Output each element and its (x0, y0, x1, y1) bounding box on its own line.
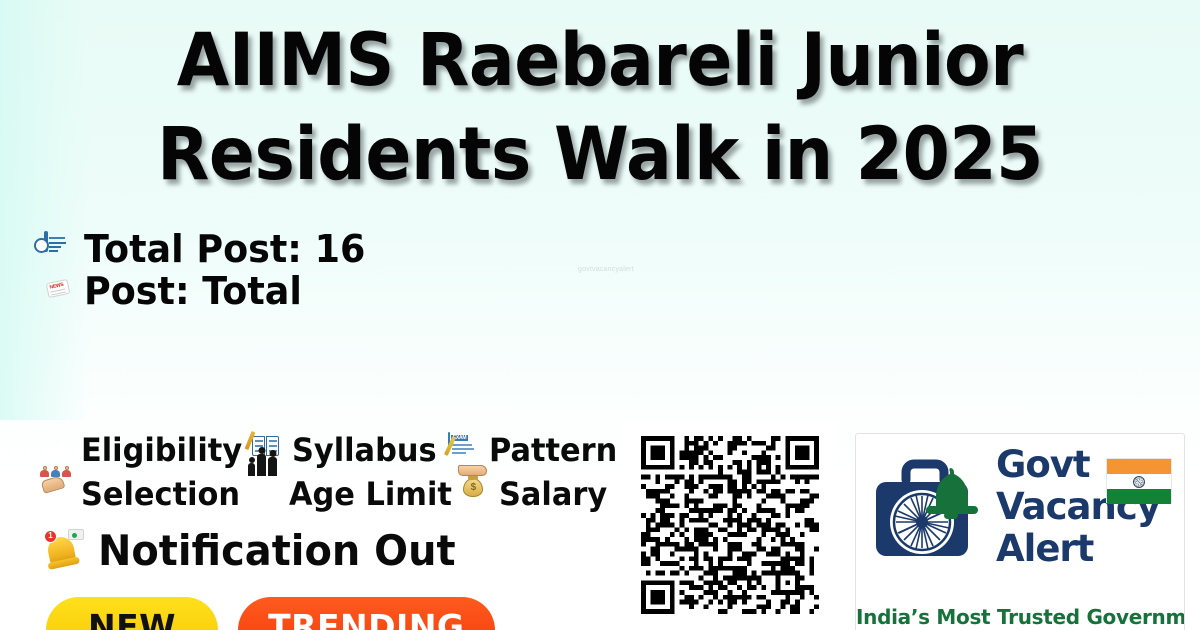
india-flag-icon (1106, 458, 1172, 503)
feature-pattern: Pattern (448, 433, 626, 467)
total-post-row: Total Post: 16 (44, 228, 377, 270)
total-posts-block: Total Post: 16 Post: Total (44, 228, 377, 312)
exam-paper-pencil-icon (448, 433, 480, 467)
news-megaphone-icon (44, 275, 74, 307)
post-total-row: Post: Total (44, 270, 377, 312)
green-check-icon (40, 433, 72, 467)
feature-label: Pattern (489, 433, 617, 467)
post-total-label: Post: Total (84, 271, 302, 311)
badge-trending[interactable]: TRENDING (238, 597, 494, 630)
logo-tagline: India’s Most Trusted Government Job Aler… (856, 605, 1184, 629)
feature-label: Age Limit (289, 477, 452, 511)
feature-eligibility: Eligibility (40, 433, 251, 467)
total-post-label: Total Post: 16 (84, 229, 365, 269)
badges-row: NEW TRENDING (46, 597, 495, 630)
open-book-pen-icon (251, 433, 283, 467)
feature-selection: Selection (40, 477, 248, 511)
logo-word-3: Alert (996, 528, 1160, 570)
family-people-icon (248, 477, 280, 511)
features-row-1: Eligibility Syllabus Pattern (40, 428, 626, 472)
flag-stripe-saffron (1107, 459, 1171, 474)
logo-main: Govt Vacancy Alert (868, 448, 1174, 574)
brand-logo-card: Govt Vacancy Alert India’s Most Trusted … (855, 433, 1185, 630)
qr-code-container[interactable] (622, 420, 837, 630)
poster-canvas: AIIMS Raebareli Junior Residents Walk in… (0, 0, 1200, 630)
flag-stripe-white (1107, 474, 1171, 489)
feature-syllabus: Syllabus (251, 433, 448, 467)
feature-label: Syllabus (292, 433, 437, 467)
briefcase-chakra-bell-icon (868, 450, 988, 570)
feature-salary: Salary (458, 477, 626, 511)
page-title: AIIMS Raebareli Junior Residents Walk in… (0, 14, 1200, 202)
qr-code[interactable] (641, 436, 819, 614)
title-line-1: AIIMS Raebareli Junior (42, 14, 1158, 108)
title-line-2: Residents Walk in 2025 (42, 108, 1158, 202)
selection-hand-people-icon (40, 477, 72, 511)
bell-notification-icon (42, 529, 84, 573)
notification-block: Notification Out (42, 528, 474, 574)
flag-stripe-green (1107, 489, 1171, 504)
watermark-text: govtvacancyalert (578, 266, 634, 273)
feature-label: Selection (81, 477, 240, 511)
feature-label: Salary (499, 477, 607, 511)
job-document-search-icon (44, 233, 74, 265)
features-grid: Eligibility Syllabus Pattern Selection (40, 428, 626, 516)
money-bag-hand-icon (458, 477, 490, 511)
notification-label: Notification Out (98, 528, 456, 574)
feature-label: Eligibility (81, 433, 242, 467)
badge-new[interactable]: NEW (46, 597, 218, 630)
feature-age-limit: Age Limit (248, 477, 458, 511)
features-row-2: Selection Age Limit Salary (40, 472, 626, 516)
